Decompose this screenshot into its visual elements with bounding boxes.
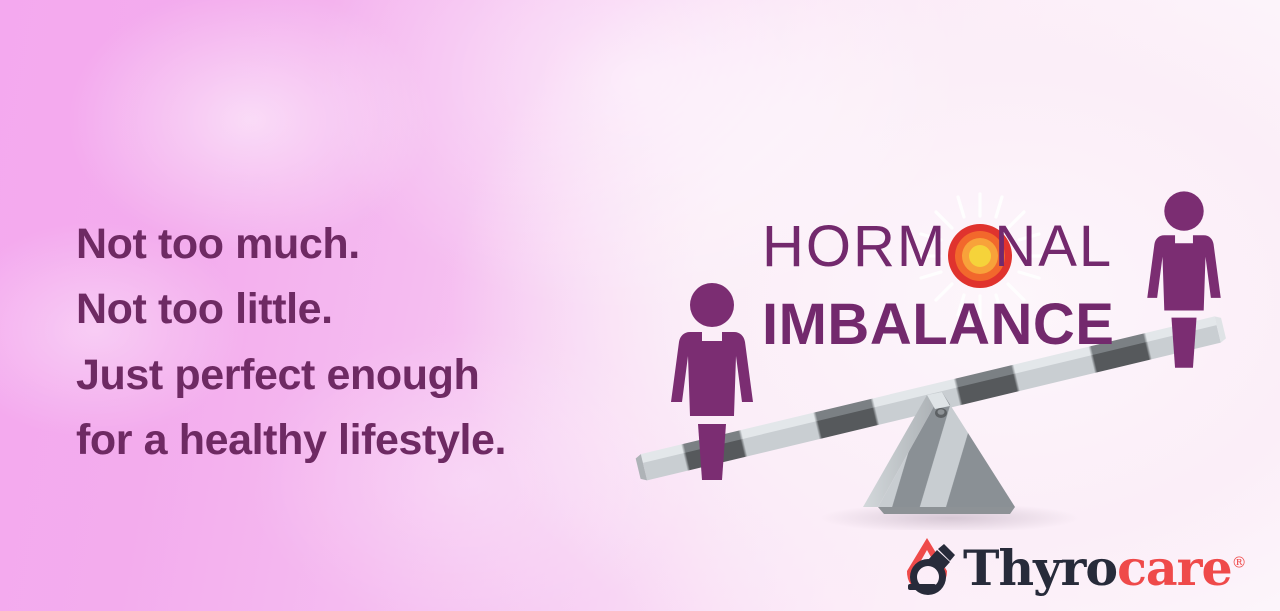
figure-dress [671,332,753,416]
figure-head [690,283,734,327]
hormonal-imbalance-banner: Not too much. Not too little. Just perfe… [0,0,1280,611]
tagline-line-1: Not too much. [76,212,636,277]
headline-line-imbalance: IMBALANCE [762,296,1142,354]
thyrocare-logo[interactable]: Thyrocare® [897,533,1247,599]
figure-legs [1171,318,1196,368]
female-figure-icon-right [1141,190,1227,370]
figure-dress [1147,235,1220,310]
tagline-line-2: Not too little. [76,277,636,342]
wordmark-care: care [1117,539,1232,597]
headline-block: HORMONAL IMBALANCE [762,218,1142,354]
headline-hormonal-before: HORM [762,214,947,279]
headline-line-hormonal: HORMONAL [762,218,1142,276]
headline-hormonal-after: NAL [994,214,1113,279]
wordmark-thyro: Thyro [963,539,1117,597]
female-figure-icon-left [664,282,760,482]
registered-trademark-symbol: ® [1232,553,1247,571]
thyrocare-microscope-droplet-icon [897,535,959,597]
figure-head [1164,191,1203,230]
logo-microscope-stage [908,584,936,590]
tagline-block: Not too much. Not too little. Just perfe… [76,212,636,473]
figure-legs [698,424,726,480]
tagline-line-4: for a healthy lifestyle. [76,408,636,473]
thyrocare-wordmark: Thyrocare® [963,544,1247,593]
tagline-line-3: Just perfect enough [76,343,636,408]
